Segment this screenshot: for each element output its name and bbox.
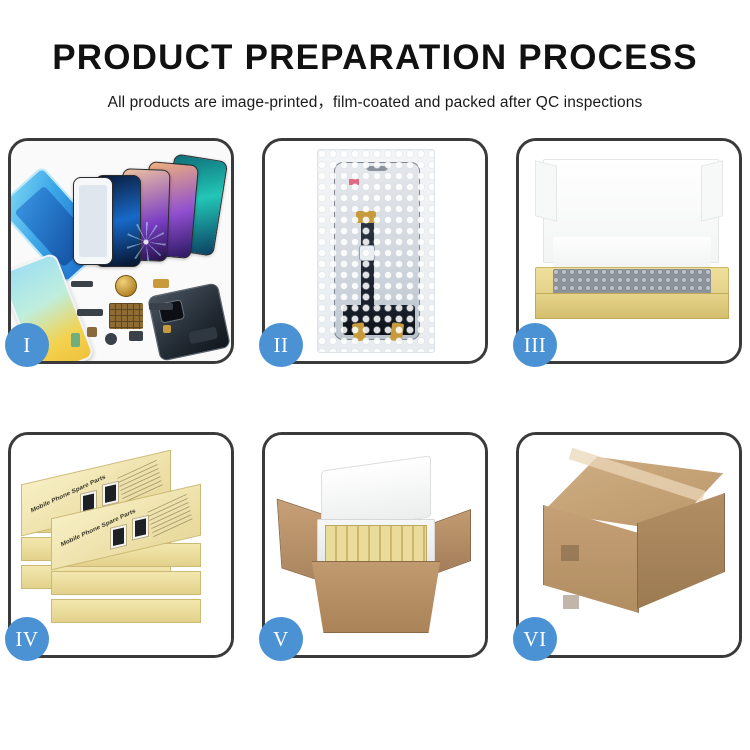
step-panel-2: II bbox=[262, 138, 488, 364]
page-subtitle: All products are image-printed，film-coat… bbox=[0, 75, 750, 112]
yellow-box-front bbox=[535, 293, 729, 319]
steps-grid: I II bbox=[8, 138, 742, 686]
step-panel-6: VI bbox=[516, 432, 742, 658]
step-6-image bbox=[519, 435, 739, 655]
copper-coil-part bbox=[115, 275, 137, 297]
step-panel-5: V bbox=[262, 432, 488, 658]
small-chip-part bbox=[87, 327, 97, 337]
step-panel-1: I bbox=[8, 138, 234, 364]
speaker-part bbox=[71, 281, 93, 287]
left-connector bbox=[352, 322, 366, 341]
cable-part bbox=[77, 309, 103, 316]
bubble-wrap-bag bbox=[317, 149, 435, 353]
stacked-box-side bbox=[51, 571, 201, 595]
lcd-screen-assembly bbox=[334, 162, 420, 340]
box-phone-thumbnail bbox=[132, 515, 149, 541]
cracked-glass-pattern bbox=[126, 222, 166, 262]
right-connector bbox=[390, 322, 404, 341]
driver-ic-board bbox=[343, 305, 415, 335]
box-phone-thumbnail bbox=[110, 524, 127, 550]
step-3-image bbox=[519, 141, 739, 361]
box-lid-right-flap bbox=[701, 160, 723, 221]
spare-components-group bbox=[71, 275, 189, 353]
red-label-tab bbox=[349, 179, 359, 185]
shipping-carton-body bbox=[303, 561, 449, 633]
screen-notch bbox=[366, 166, 388, 171]
step-badge-1: I bbox=[5, 323, 49, 367]
step-badge-6: VI bbox=[513, 617, 557, 661]
header: PRODUCT PREPARATION PROCESS All products… bbox=[0, 0, 750, 112]
camera-part bbox=[105, 333, 117, 345]
carton-handle-tab bbox=[563, 595, 579, 609]
screw-part bbox=[163, 325, 171, 333]
flex-cable-part bbox=[149, 303, 173, 310]
screen-fan bbox=[69, 155, 229, 285]
stacked-box-side bbox=[51, 599, 201, 623]
chip-grid-part bbox=[109, 303, 143, 329]
step-5-image bbox=[265, 435, 485, 655]
step-panel-3: III bbox=[516, 138, 742, 364]
step-4-image: Mobile Phone Spare Parts Mobile Phone Sp… bbox=[11, 435, 231, 655]
yellow-boxes-inside bbox=[325, 525, 427, 565]
step-1-image bbox=[11, 141, 231, 361]
page-title: PRODUCT PREPARATION PROCESS bbox=[0, 0, 750, 75]
box-lid-left-flap bbox=[535, 160, 557, 221]
step-badge-3: III bbox=[513, 323, 557, 367]
white-glass-panel bbox=[73, 177, 113, 265]
carton-handle-tab bbox=[561, 545, 579, 561]
product-preparation-infographic: PRODUCT PREPARATION PROCESS All products… bbox=[0, 0, 750, 750]
step-badge-2: II bbox=[259, 323, 303, 367]
step-badge-5: V bbox=[259, 617, 303, 661]
connector-part bbox=[129, 331, 143, 341]
battery-part bbox=[71, 333, 80, 347]
step-2-image bbox=[265, 141, 485, 361]
box-stack: Mobile Phone Spare Parts Mobile Phone Sp… bbox=[21, 457, 223, 637]
gold-flex-part bbox=[153, 279, 169, 288]
box-spec-lines bbox=[147, 494, 192, 538]
step-badge-4: IV bbox=[5, 617, 49, 661]
step-panel-4: Mobile Phone Spare Parts Mobile Phone Sp… bbox=[8, 432, 234, 658]
